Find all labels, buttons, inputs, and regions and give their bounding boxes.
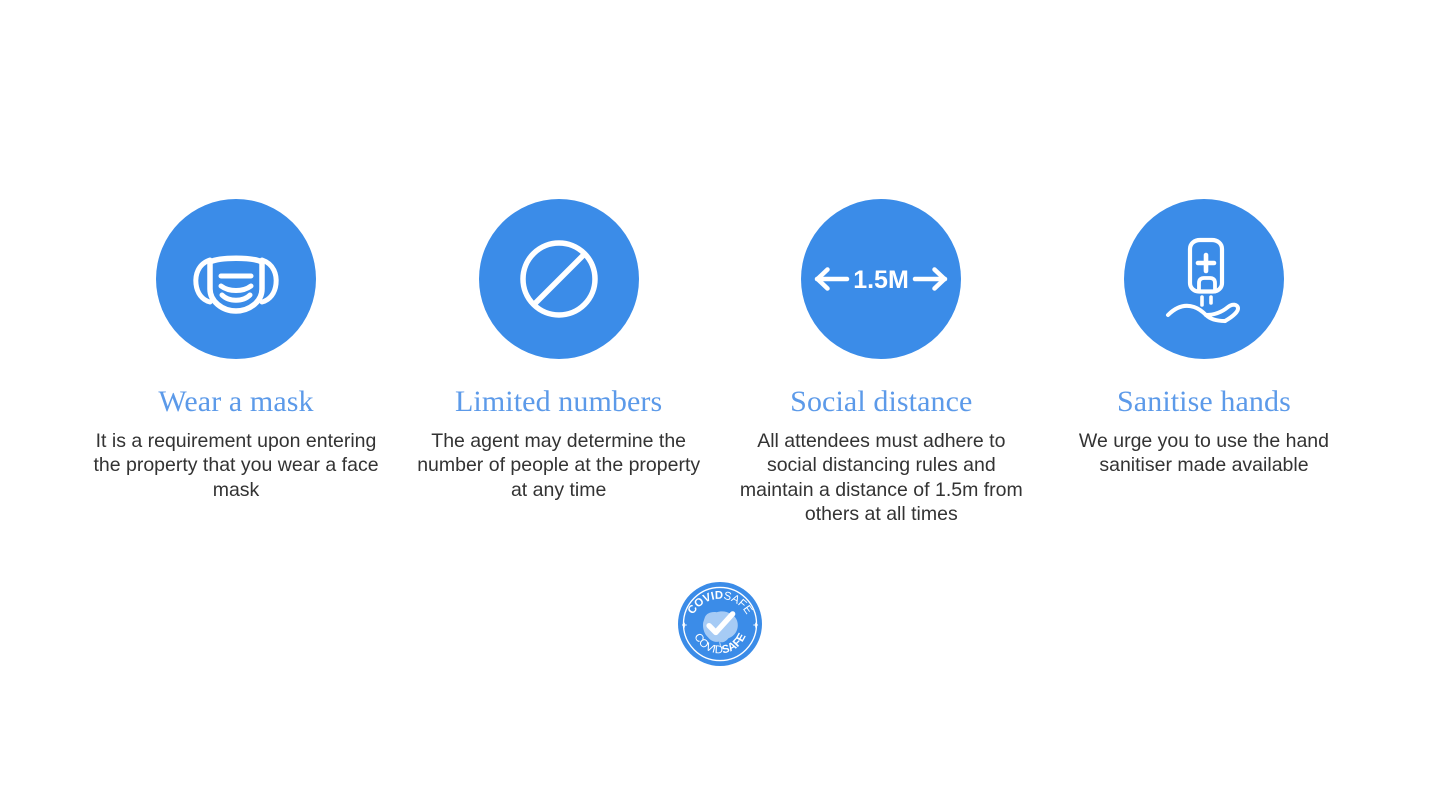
social-distance-icon-circle: 1.5M	[801, 199, 961, 359]
guideline-body: It is a requirement upon entering the pr…	[91, 429, 381, 503]
covidsafe-badge: COVIDSAFE COVIDSAFE + +	[678, 582, 762, 666]
hand-sanitiser-icon-circle	[1124, 199, 1284, 359]
safety-guidelines-board: Wear a mask It is a requirement upon ent…	[0, 0, 1440, 810]
covidsafe-badge-wrap: COVIDSAFE COVIDSAFE + +	[0, 582, 1440, 666]
guideline-body: All attendees must adhere to social dist…	[736, 429, 1026, 527]
prohibition-icon	[507, 227, 611, 331]
distance-label: 1.5M	[854, 266, 910, 294]
guideline-column-sanitise-hands: Sanitise hands We urge you to use the ha…	[1054, 199, 1354, 478]
face-mask-icon	[184, 227, 288, 331]
guideline-heading: Sanitise hands	[1117, 386, 1291, 418]
guideline-column-social-distance: 1.5M Social distance All attendees must …	[731, 199, 1031, 527]
guideline-column-limited-numbers: Limited numbers The agent may determine …	[409, 199, 709, 502]
guideline-heading: Wear a mask	[158, 386, 313, 418]
guidelines-columns: Wear a mask It is a requirement upon ent…	[86, 199, 1354, 527]
badge-separator-left: +	[682, 620, 688, 630]
hand-sanitiser-icon	[1152, 227, 1256, 331]
face-mask-icon-circle	[156, 199, 316, 359]
guideline-heading: Limited numbers	[455, 386, 662, 418]
guideline-heading: Social distance	[790, 386, 972, 418]
guideline-body: We urge you to use the hand sanitiser ma…	[1059, 429, 1349, 478]
social-distance-icon: 1.5M	[814, 251, 948, 307]
prohibition-icon-circle	[479, 199, 639, 359]
guideline-body: The agent may determine the number of pe…	[414, 429, 704, 503]
guideline-column-wear-a-mask: Wear a mask It is a requirement upon ent…	[86, 199, 386, 502]
badge-separator-right: +	[753, 620, 759, 630]
